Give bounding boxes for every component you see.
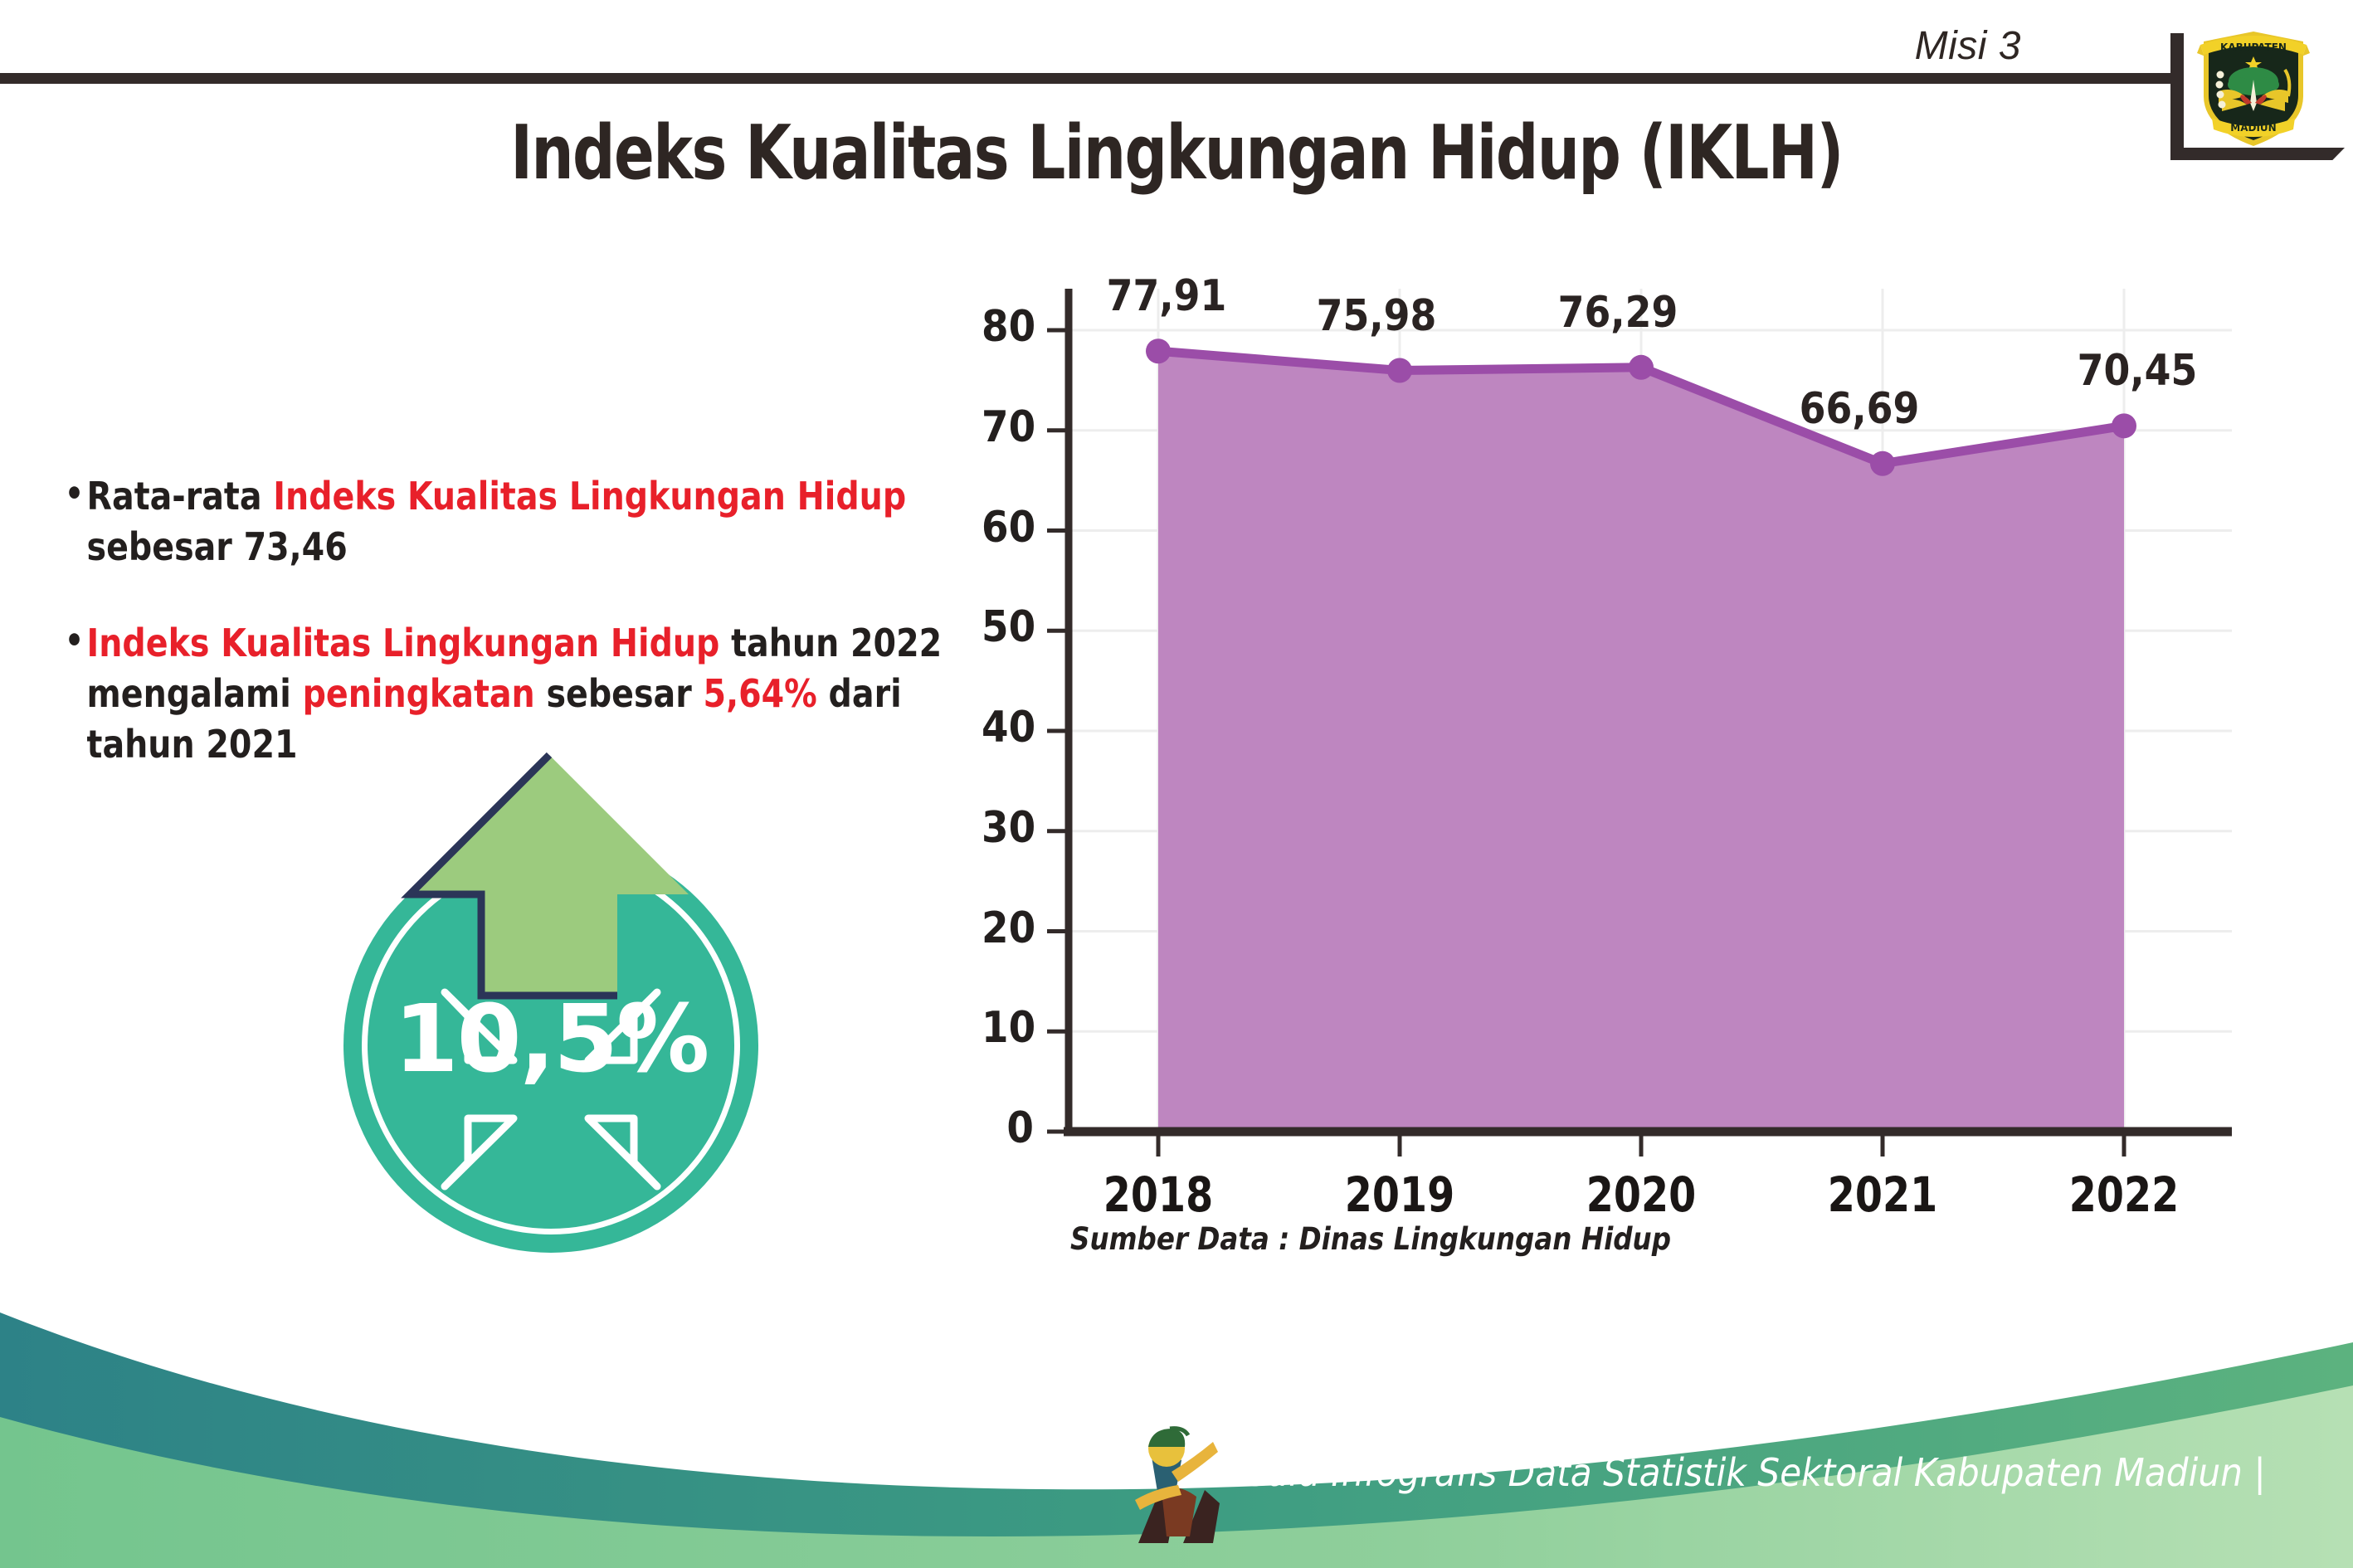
chart-data-label: 76,29 — [1537, 288, 1698, 338]
bullet-highlight-text: Indeks Kualitas Lingkungan Hidup — [273, 474, 906, 519]
bullet-highlight-text: 5,64% — [704, 671, 817, 716]
chart-data-label: 77,91 — [1086, 271, 1247, 321]
footer-caption: Media Infografis Data Statistik Sektoral… — [1215, 1450, 2266, 1495]
header-bracket-horizontal — [2170, 148, 2345, 160]
bullet-text: Rata-rata Indeks Kualitas Lingkungan Hid… — [87, 471, 978, 572]
header-bracket-vertical — [2170, 33, 2184, 159]
increase-badge: 10,5% — [325, 747, 773, 1195]
bullet-plain-text: sebesar — [535, 671, 704, 716]
mission-label: Misi 3 — [1915, 23, 2021, 69]
chart-y-tick-label: 20 — [982, 903, 1034, 953]
chart-y-tick-label: 60 — [982, 503, 1034, 553]
dancer-figure-icon — [1127, 1420, 1225, 1545]
chart-y-tick-label: 70 — [982, 402, 1034, 452]
chart-data-label: 66,69 — [1779, 384, 1940, 434]
iklh-area-chart: 01020304050607080 20182019202020212022 7… — [976, 272, 2270, 1201]
up-arrow-icon — [400, 747, 699, 1020]
chart-x-tick-label: 2020 — [1552, 1166, 1729, 1223]
chart-plot-svg — [976, 272, 2270, 1201]
chart-y-tick-label: 40 — [982, 703, 1034, 752]
chart-area-fill — [1158, 351, 2124, 1132]
chart-y-tick-label: 10 — [982, 1003, 1034, 1053]
svg-text:MADIUN: MADIUN — [2230, 122, 2276, 134]
chart-x-tick-label: 2021 — [1794, 1166, 1971, 1223]
badge-value: 10,5% — [343, 986, 758, 1093]
bullet-plain-text: sebesar 73,46 — [87, 524, 348, 569]
bullet-highlight-text: Indeks Kualitas Lingkungan Hidup — [87, 621, 720, 665]
page-title: Indeks Kualitas Lingkungan Hidup (IKLH) — [236, 110, 2118, 197]
chart-source-note: Sumber Data : Dinas Lingkungan Hidup — [1070, 1221, 1671, 1257]
bullet-plain-text: Rata-rata — [87, 474, 274, 519]
bullet-dot: • — [65, 618, 84, 664]
chart-x-tick-label: 2018 — [1069, 1166, 1246, 1223]
chart-y-tick-label: 80 — [982, 302, 1034, 352]
chart-x-tick-label: 2019 — [1311, 1166, 1488, 1223]
svg-text:KABUPATEN: KABUPATEN — [2220, 41, 2287, 53]
infographic-page: Misi 3 KABUPATEN MADI — [0, 0, 2353, 1568]
bullet-dot: • — [65, 471, 84, 517]
kabupaten-madiun-crest-icon: KABUPATEN MADIUN — [2190, 20, 2316, 149]
header-divider-line — [0, 73, 2184, 84]
chart-y-tick-label: 0 — [982, 1103, 1034, 1153]
chart-y-tick-label: 30 — [982, 803, 1034, 853]
chart-y-tick-label: 50 — [982, 602, 1034, 652]
chart-data-label: 70,45 — [2057, 346, 2218, 396]
list-item: • Rata-rata Indeks Kualitas Lingkungan H… — [65, 471, 978, 572]
bullet-highlight-text: peningkatan — [303, 671, 535, 716]
chart-data-label: 75,98 — [1296, 291, 1457, 341]
chart-x-tick-label: 2022 — [2035, 1166, 2212, 1223]
